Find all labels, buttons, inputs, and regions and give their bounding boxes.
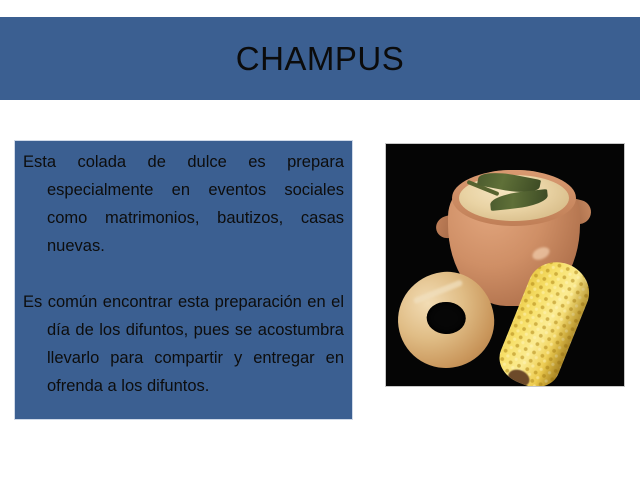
champus-photo xyxy=(385,143,625,387)
bread-ring-hole xyxy=(426,301,466,334)
photo-canvas xyxy=(386,144,624,386)
paragraph-spacer xyxy=(23,260,344,288)
body-text-box: Esta colada de dulce es prepara especial… xyxy=(14,140,353,420)
body-paragraph-2: Es común encontrar esta preparación en e… xyxy=(23,288,344,400)
page-title: CHAMPUS xyxy=(236,42,405,75)
body-paragraph-1: Esta colada de dulce es prepara especial… xyxy=(23,148,344,260)
slide: CHAMPUS Esta colada de dulce es prepara … xyxy=(0,0,640,480)
title-banner: CHAMPUS xyxy=(0,17,640,100)
bread-crust-highlight xyxy=(413,279,463,304)
